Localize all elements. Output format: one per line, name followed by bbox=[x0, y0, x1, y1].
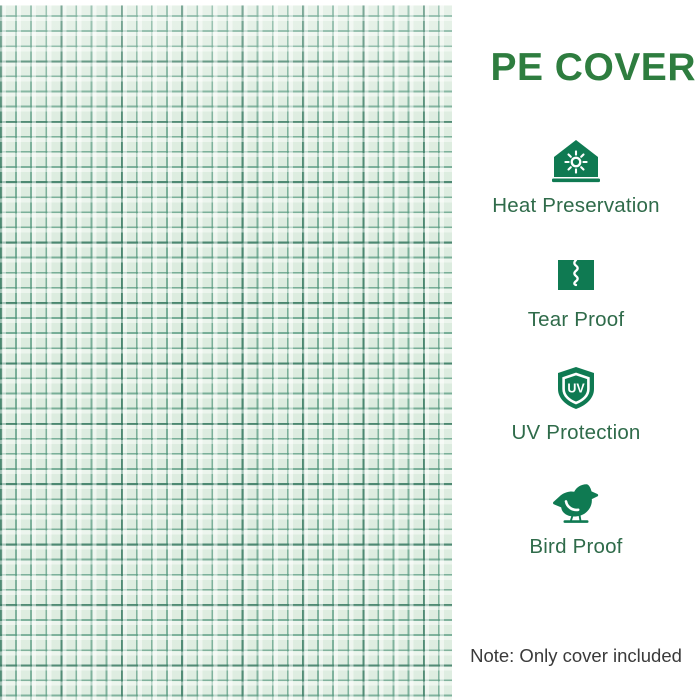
feature-label: Bird Proof bbox=[452, 536, 700, 559]
pe-mesh-fabric-swatch bbox=[0, 0, 452, 700]
feature-uv-protection: UV UV Protection bbox=[452, 365, 700, 445]
feature-label: Tear Proof bbox=[452, 309, 700, 332]
tear-sheet-icon bbox=[452, 252, 700, 298]
mesh-top-edge bbox=[0, 0, 452, 5]
svg-text:UV: UV bbox=[567, 382, 585, 396]
feature-heat-preservation: Heat Preservation bbox=[452, 138, 700, 218]
info-panel: PE COVER bbox=[452, 0, 700, 700]
feature-tear-proof: Tear Proof bbox=[452, 252, 700, 332]
page-title: PE COVER bbox=[490, 48, 696, 87]
mesh-sheen-overlay bbox=[0, 0, 452, 700]
bird-icon bbox=[452, 479, 700, 525]
uv-shield-icon: UV bbox=[452, 365, 700, 411]
product-infographic: PE COVER bbox=[0, 0, 700, 700]
greenhouse-sun-icon bbox=[452, 138, 700, 184]
product-note: Note: Only cover included bbox=[452, 645, 700, 667]
feature-label: UV Protection bbox=[452, 422, 700, 445]
feature-list: Heat Preservation Tear Proof bbox=[452, 138, 700, 558]
feature-bird-proof: Bird Proof bbox=[452, 479, 700, 559]
feature-label: Heat Preservation bbox=[452, 195, 700, 218]
